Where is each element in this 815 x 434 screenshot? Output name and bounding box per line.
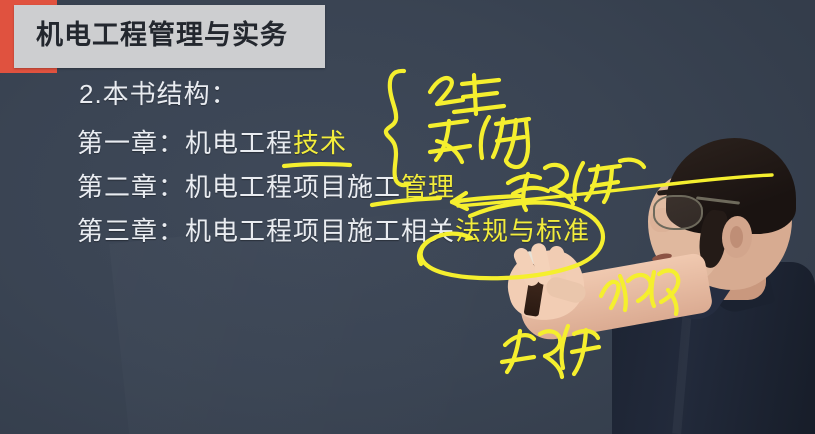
- slide-line-chapter-3: 第三章：机电工程项目施工相关法规与标准: [77, 215, 590, 247]
- slide-line-chapter-1: 第一章：机电工程技术: [77, 127, 347, 159]
- slide-line-heading: 2.本书结构：: [79, 78, 238, 110]
- chapter-3-text: 第三章：机电工程项目施工相关: [77, 216, 455, 246]
- slide-line-heading-text: 2.本书结构：: [79, 79, 238, 109]
- page-title: 机电工程管理与实务: [36, 16, 316, 54]
- slide-line-chapter-2: 第二章：机电工程项目施工管理: [77, 171, 455, 203]
- chapter-1-text: 第一章：机电工程: [77, 128, 293, 158]
- presenter-ear-inner: [730, 226, 743, 248]
- chapter-3-keyword: 法规与标准: [455, 216, 590, 246]
- glasses-lens-icon: [653, 195, 703, 230]
- chapter-1-keyword: 技术: [293, 128, 347, 158]
- video-frame: 机电工程管理与实务 2.本书结构： 第一章：机电工程技术 第二章：机电工程项目施…: [0, 0, 815, 434]
- chapter-2-keyword: 管理: [401, 172, 455, 202]
- chapter-2-text: 第二章：机电工程项目施工: [77, 172, 401, 202]
